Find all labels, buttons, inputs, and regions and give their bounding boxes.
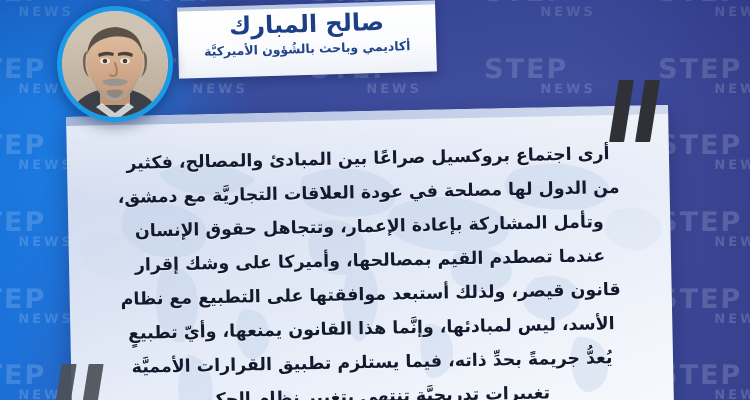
quote-text: أرى اجتماع بروكسيل صراعًا بين المبادئ وا… <box>89 137 652 400</box>
quote-card: أرى اجتماع بروكسيل صراعًا بين المبادئ وا… <box>66 105 674 400</box>
speaker-name-plate: صالح المبارك أكاديمي وباحث بالشُؤون الأم… <box>177 0 437 78</box>
speaker-name: صالح المبارك <box>189 7 424 43</box>
avatar <box>57 6 173 122</box>
quote-card-graphic: STEPNEWSSTEPNEWSSTEPNEWSSTEPNEWSSTEPNEWS… <box>0 0 750 400</box>
